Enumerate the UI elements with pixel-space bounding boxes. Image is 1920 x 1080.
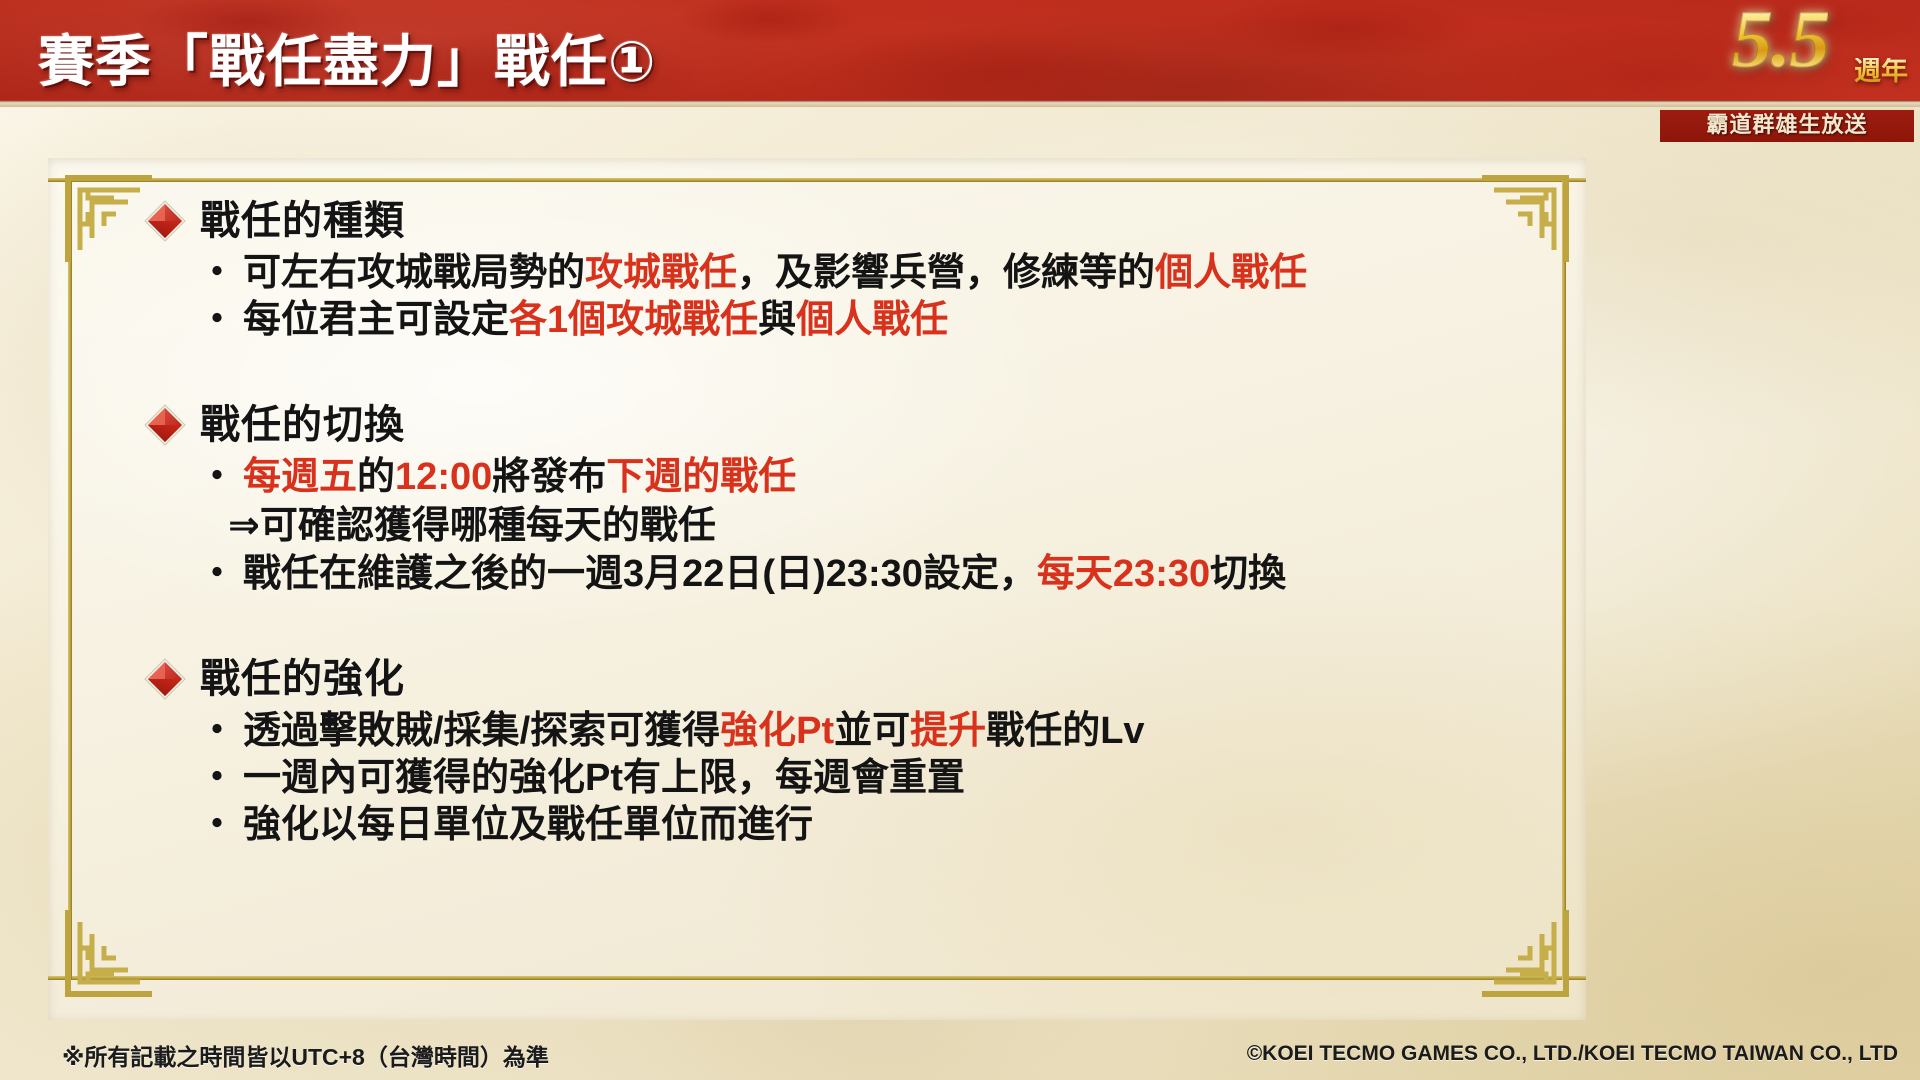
anniversary-year-label: 週年: [1854, 58, 1908, 85]
bullet-dot-icon: ・: [198, 553, 236, 595]
panel-rule-left: [68, 178, 72, 980]
highlighted-text: 12:00: [395, 456, 492, 498]
diamond-bullet-icon: [144, 658, 186, 700]
panel-rule-right: [1562, 178, 1566, 980]
bullet-text: 將發布: [492, 456, 606, 498]
bullet-item: ・可左右攻城戰局勢的攻城戰任，及影響兵營，修練等的個人戰任: [198, 250, 1544, 297]
bullet-text: 的: [357, 456, 395, 498]
highlighted-text: 每週五: [243, 456, 357, 498]
bullet-text: 切換: [1210, 553, 1286, 595]
bullet-text: ，及影響兵營，修練等的: [737, 252, 1155, 294]
bullet-subline: ⇒可確認獲得哪種每天的戰任: [228, 501, 1544, 551]
bullet-dot-icon: ・: [198, 804, 236, 846]
bullet-text: 每位君主可設定: [243, 299, 509, 341]
anniversary-logo: 5.5 週年 霸道群雄生放送: [1646, 0, 1914, 142]
highlighted-text: 攻城戰任: [585, 252, 737, 294]
ornament-corner-icon: [1476, 904, 1572, 1000]
diamond-bullet-icon: [144, 404, 186, 446]
copyright-notice: ©KOEI TECMO GAMES CO., LTD./KOEI TECMO T…: [1247, 1042, 1898, 1066]
highlighted-text: 個人戰任: [1155, 252, 1307, 294]
bullet-dot-icon: ・: [198, 757, 236, 799]
bullet-item: ・每位君主可設定各1個攻城戰任與個人戰任: [198, 297, 1544, 344]
highlighted-text: 提升: [910, 710, 986, 752]
bullet-dot-icon: ・: [198, 299, 236, 341]
bullet-item: ・透過擊敗賊/採集/探索可獲得強化Pt並可提升戰任的Lv: [198, 708, 1544, 755]
highlighted-text: 下週的戰任: [606, 456, 796, 498]
bullet-text: 與: [758, 299, 796, 341]
timezone-note: ※所有記載之時間皆以UTC+8（台灣時間）為準: [62, 1038, 549, 1072]
bullet-list: ・每週五的12:00將發布下週的戰任⇒可確認獲得哪種每天的戰任・戰任在維護之後的…: [198, 454, 1544, 598]
section-title: 戰任的切換: [200, 402, 405, 448]
header-bottom-rule: [0, 100, 1920, 107]
bullet-dot-icon: ・: [198, 710, 236, 752]
anniversary-number: 5.5: [1732, 0, 1829, 82]
bullet-item: ・一週內可獲得的強化Pt有上限，每週會重置: [198, 755, 1544, 802]
anniversary-subtitle: 霸道群雄生放送: [1660, 108, 1914, 142]
bullet-text: 戰任的Lv: [986, 710, 1144, 752]
bullet-list: ・可左右攻城戰局勢的攻城戰任，及影響兵營，修練等的個人戰任・每位君主可設定各1個…: [198, 250, 1544, 344]
content-body: 戰任的種類・可左右攻城戰局勢的攻城戰任，及影響兵營，修練等的個人戰任・每位君主可…: [144, 198, 1544, 849]
bullet-text: 戰任在維護之後的一週3月22日(日)23:30設定，: [243, 553, 1037, 595]
bullet-list: ・透過擊敗賊/採集/探索可獲得強化Pt並可提升戰任的Lv・一週內可獲得的強化Pt…: [198, 708, 1544, 849]
highlighted-text: 各1個攻城戰任: [509, 299, 758, 341]
diamond-bullet-icon: [144, 200, 186, 242]
section-header: 戰任的種類: [144, 198, 1544, 244]
bullet-text: 強化以每日單位及戰任單位而進行: [243, 804, 813, 846]
bullet-item: ・戰任在維護之後的一週3月22日(日)23:30設定，每天23:30切換: [198, 551, 1544, 598]
section-header: 戰任的強化: [144, 656, 1544, 702]
section-header: 戰任的切換: [144, 402, 1544, 448]
content-section: 戰任的種類・可左右攻城戰局勢的攻城戰任，及影響兵營，修練等的個人戰任・每位君主可…: [144, 198, 1544, 344]
slide-root: 賽季「戰任盡力」戰任① 5.5 週年 霸道群雄生放送: [0, 0, 1920, 1080]
bullet-text: 透過擊敗賊/採集/探索可獲得: [243, 710, 720, 752]
panel-rule-bottom: [48, 976, 1586, 980]
bullet-item: ・每週五的12:00將發布下週的戰任: [198, 454, 1544, 501]
section-title: 戰任的強化: [200, 656, 405, 702]
bullet-item: ・強化以每日單位及戰任單位而進行: [198, 802, 1544, 849]
ornament-corner-icon: [62, 904, 158, 1000]
highlighted-text: 個人戰任: [796, 299, 948, 341]
section-title: 戰任的種類: [200, 198, 405, 244]
bullet-text: 可左右攻城戰局勢的: [243, 252, 585, 294]
bullet-dot-icon: ・: [198, 456, 236, 498]
content-panel: 戰任的種類・可左右攻城戰局勢的攻城戰任，及影響兵營，修練等的個人戰任・每位君主可…: [48, 158, 1586, 1020]
bullet-dot-icon: ・: [198, 252, 236, 294]
header-band: 賽季「戰任盡力」戰任①: [0, 0, 1920, 107]
bullet-text: 一週內可獲得的強化Pt有上限，每週會重置: [243, 757, 965, 799]
bullet-text: 並可: [834, 710, 910, 752]
page-title: 賽季「戰任盡力」戰任①: [38, 17, 656, 98]
highlighted-text: 每天23:30: [1037, 553, 1210, 595]
content-section: 戰任的切換・每週五的12:00將發布下週的戰任⇒可確認獲得哪種每天的戰任・戰任在…: [144, 402, 1544, 598]
content-section: 戰任的強化・透過擊敗賊/採集/探索可獲得強化Pt並可提升戰任的Lv・一週內可獲得…: [144, 656, 1544, 849]
panel-rule-top: [48, 178, 1586, 182]
highlighted-text: 強化Pt: [720, 710, 834, 752]
